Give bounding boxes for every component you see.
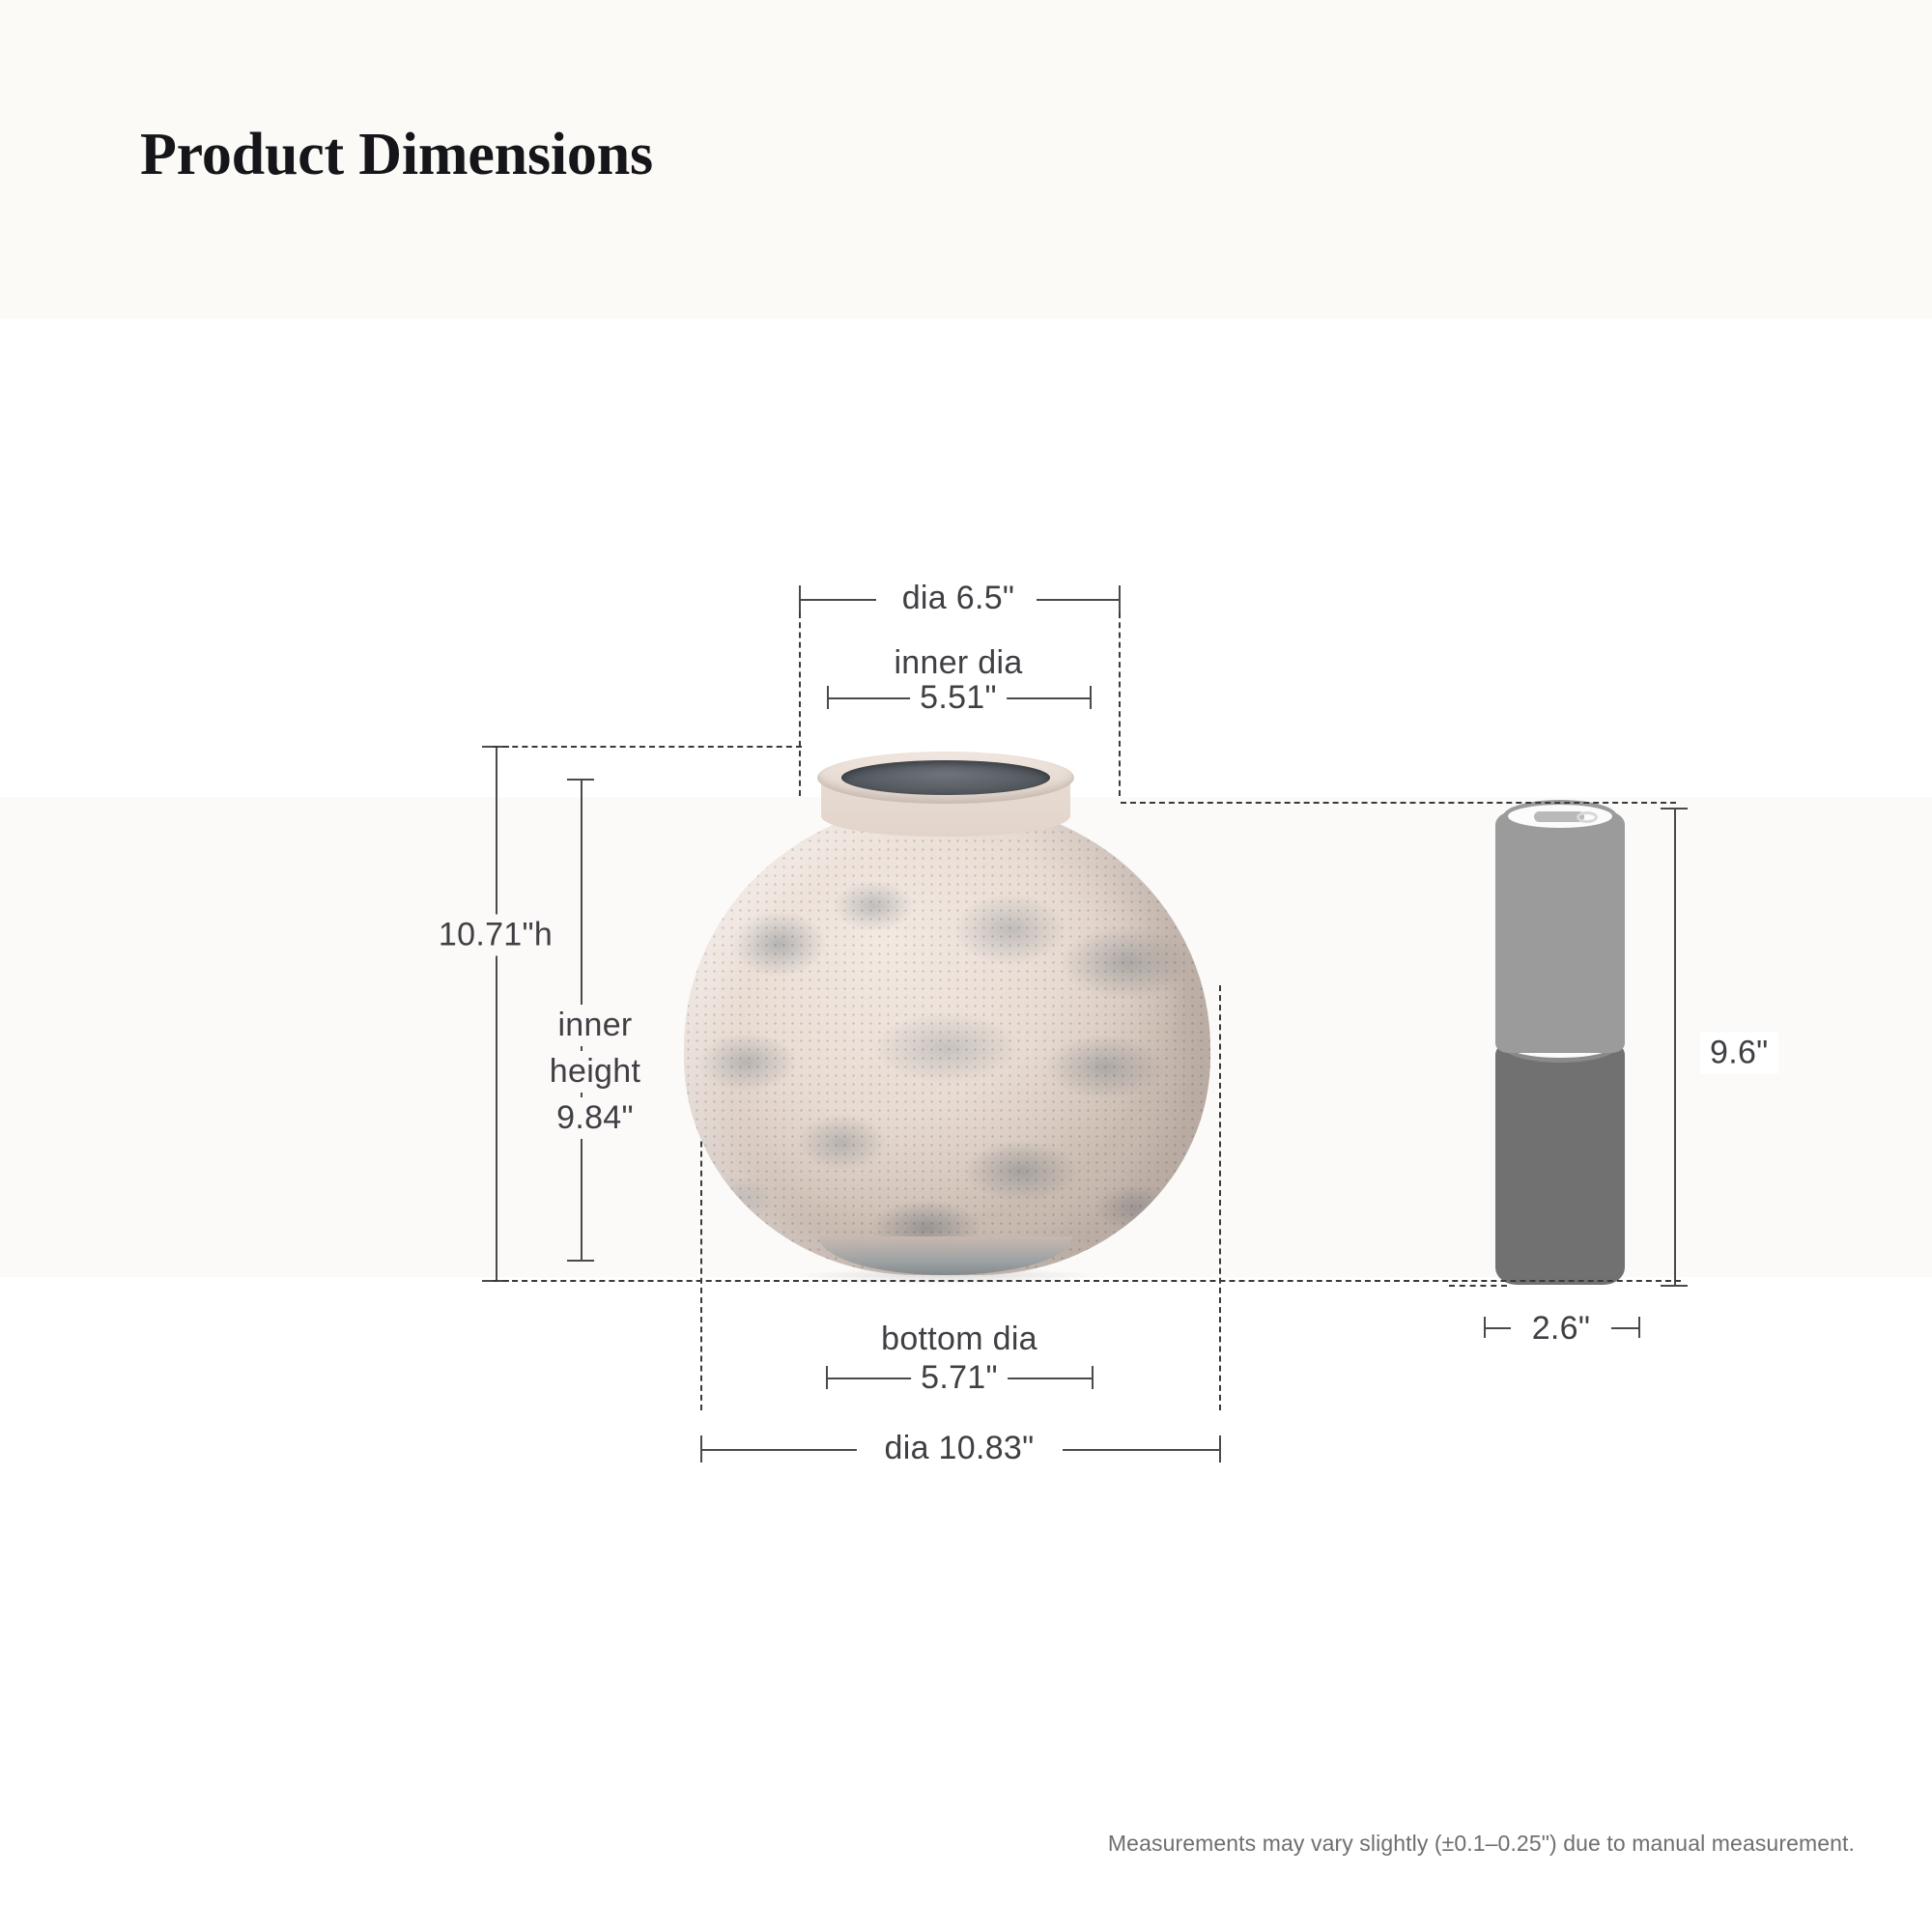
height-axis-line [496, 746, 497, 1280]
soda-can-upper [1495, 811, 1625, 1053]
dia-6-5-line-left [799, 599, 876, 601]
dia-6-5-cap-left [799, 585, 801, 612]
baseline-guide [493, 1280, 1681, 1282]
dia-10-83-cap-left [700, 1435, 702, 1463]
can-baseline-guide [1449, 1285, 1507, 1287]
inner-height-cap-bottom [567, 1260, 594, 1262]
inner-height-label-line2: height [540, 1051, 650, 1093]
bottom-dia-line-left [826, 1378, 919, 1379]
inner-dia-value: 5.51" [910, 677, 1007, 719]
bottom-dia-label: bottom dia [871, 1319, 1047, 1360]
dia-10-83-label: dia 10.83" [875, 1428, 1044, 1469]
height-label: 10.71"h [429, 915, 562, 956]
can-width-cap-left [1484, 1317, 1486, 1338]
can-width-cap-right [1638, 1317, 1640, 1338]
can-width-label: 2.6" [1522, 1308, 1601, 1350]
inner-height-value: 9.84" [547, 1097, 643, 1139]
vase-texture-speckle [684, 802, 1210, 1275]
bottom-dia-value: 5.71" [911, 1357, 1008, 1399]
inner-dia-line-left [827, 697, 923, 699]
inner-height-label-line1: inner [548, 1005, 641, 1046]
dia-10-83-cap-right [1219, 1435, 1221, 1463]
rim-top-guide-left [493, 746, 802, 748]
page-title: Product Dimensions [140, 121, 653, 189]
inner-height-cap-top [567, 779, 594, 781]
soda-can-lower [1495, 1041, 1625, 1285]
product-image-vase [676, 734, 1217, 1285]
vase-rim-opening [841, 760, 1050, 795]
can-height-axis [1674, 808, 1676, 1285]
dia-10-83-line-right [1063, 1449, 1219, 1451]
can-height-cap-top [1661, 808, 1688, 810]
inner-dia-cap-right [1090, 686, 1092, 709]
can-height-cap-bottom [1661, 1285, 1688, 1287]
can-width-line-left [1484, 1327, 1511, 1329]
inner-dia-line-right [995, 697, 1090, 699]
dimension-diagram-canvas: Product Dimensions dia 6.5" [0, 0, 1932, 1932]
dia-6-5-line-right [1037, 599, 1119, 601]
dia-6-5-cap-right [1119, 585, 1121, 612]
vase-body [684, 802, 1210, 1275]
soda-can-upper-tab-ring [1577, 811, 1598, 823]
scale-reference-cans [1495, 811, 1631, 1285]
dia-10-83-line-left [702, 1449, 857, 1451]
bottom-dia-cap-right [1092, 1366, 1094, 1389]
dia-6-5-label: dia 6.5" [893, 578, 1025, 619]
bottom-dia-line-right [1001, 1378, 1092, 1379]
inner-dia-cap-left [827, 686, 829, 709]
bottom-dia-cap-left [826, 1366, 828, 1389]
widest-dia-ext-right [1219, 985, 1221, 1410]
shoulder-guide-right [1121, 802, 1676, 804]
can-height-label: 9.6" [1700, 1033, 1778, 1074]
footer-disclaimer: Measurements may vary slightly (±0.1–0.2… [1108, 1831, 1855, 1857]
can-width-line-right [1611, 1327, 1638, 1329]
